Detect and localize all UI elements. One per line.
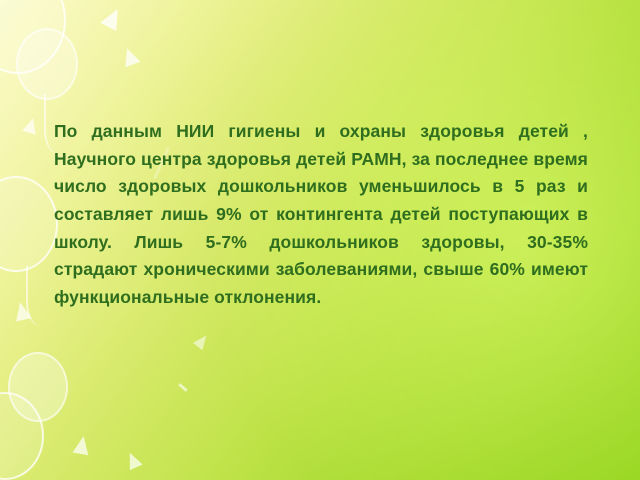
confetti-3-icon	[22, 116, 40, 134]
confetti-8-icon	[178, 383, 188, 392]
slide-body-paragraph: По данным НИИ гигиены и охраны здоровья …	[54, 118, 588, 311]
balloon-upper-left-icon	[16, 28, 78, 100]
slide-body-text: По данным НИИ гигиены и охраны здоровья …	[54, 118, 588, 311]
confetti-2-icon	[120, 46, 141, 67]
confetti-5-icon	[73, 435, 92, 456]
confetti-1-icon	[100, 5, 125, 31]
confetti-6-icon	[123, 450, 142, 470]
confetti-4-icon	[12, 301, 31, 322]
balloon-mid-left-icon	[0, 176, 58, 272]
slide-canvas: По данным НИИ гигиены и охраны здоровья …	[0, 0, 640, 480]
confetti-7-icon	[193, 332, 211, 350]
